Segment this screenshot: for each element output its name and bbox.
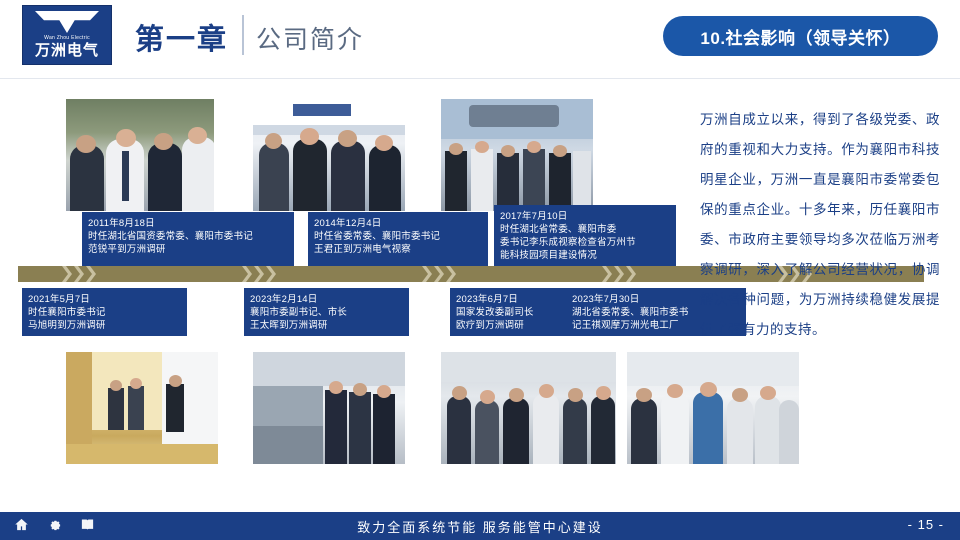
company-logo-icon <box>35 11 99 33</box>
caption-line2: 时任襄阳市委书记 <box>28 306 181 319</box>
timeline-chevron-icon <box>242 266 252 282</box>
timeline-chevron-icon <box>74 266 84 282</box>
caption-line3: 范锐平到万洲调研 <box>88 243 288 256</box>
timeline-chevron-icon <box>422 266 432 282</box>
caption-line1: 2021年5月7日 <box>28 293 181 306</box>
page-number: - 15 - <box>908 517 944 532</box>
caption-2011: 2011年8月18日 时任湖北省国资委常委、襄阳市委书记 范锐平到万洲调研 <box>82 212 294 266</box>
slide-header: Wan Zhou Electric 万洲电气 第一章 公司简介 10.社会影响（… <box>0 0 960 72</box>
caption-line2: 时任湖北省常委、襄阳市委 <box>500 223 670 236</box>
photo-2023-06 <box>441 352 616 464</box>
caption-line3: 委书记李乐成视察检查省万州节 <box>500 236 670 249</box>
caption-line2: 时任省委常委、襄阳市委书记 <box>314 230 482 243</box>
photo-image <box>66 99 214 211</box>
photo-2017 <box>441 99 593 211</box>
timeline-chevron-icon <box>254 266 264 282</box>
timeline-chevron-icon <box>626 266 636 282</box>
caption-line1: 2017年7月10日 <box>500 210 670 223</box>
timeline-chevron-icon <box>602 266 612 282</box>
slide-title: 10.社会影响（领导关怀） <box>700 24 900 49</box>
caption-line3: 王君正到万洲电气视察 <box>314 243 482 256</box>
caption-2014: 2014年12月4日 时任省委常委、襄阳市委书记 王君正到万洲电气视察 <box>308 212 488 266</box>
header-rule <box>0 78 960 79</box>
body-paragraph: 万洲自成立以来，得到了各级党委、政府的重视和大力支持。作为襄阳市科技明星企业，万… <box>700 105 940 345</box>
timeline-chevron-icon <box>62 266 72 282</box>
photo-image <box>441 99 593 211</box>
caption-line4: 能科技园项目建设情况 <box>500 249 670 262</box>
photo-image <box>253 352 405 464</box>
photo-image <box>66 352 218 464</box>
photo-2023-02 <box>253 352 405 464</box>
chapter-subtitle: 公司简介 <box>256 20 364 56</box>
photo-image <box>441 352 616 464</box>
caption-line1: 2023年2月14日 <box>250 293 403 306</box>
photo-2023-07 <box>627 352 799 464</box>
caption-line3: 王太晖到万洲调研 <box>250 319 403 332</box>
caption-2021: 2021年5月7日 时任襄阳市委书记 马旭明到万洲调研 <box>22 288 187 336</box>
footer-slogan: 致力全面系统节能 服务能管中心建设 <box>0 517 960 536</box>
caption-line2: 襄阳市委副书记、市长 <box>250 306 403 319</box>
header-divider <box>242 15 244 55</box>
chapter-label: 第一章 <box>135 16 228 58</box>
logo-cn-text: 万洲电气 <box>35 43 99 59</box>
caption-line1: 2014年12月4日 <box>314 217 482 230</box>
timeline-chevron-icon <box>446 266 456 282</box>
timeline-chevron-icon <box>266 266 276 282</box>
photo-image <box>627 352 799 464</box>
photo-image <box>253 99 405 211</box>
caption-line2: 时任湖北省国资委常委、襄阳市委书记 <box>88 230 288 243</box>
timeline-chevron-icon <box>86 266 96 282</box>
photo-2011 <box>66 99 214 211</box>
timeline-chevron-icon <box>614 266 624 282</box>
photo-2014 <box>253 99 405 211</box>
caption-line3: 马旭明到万洲调研 <box>28 319 181 332</box>
logo-en-text: Wan Zhou Electric <box>44 35 90 41</box>
caption-line1: 2011年8月18日 <box>88 217 288 230</box>
company-logo: Wan Zhou Electric 万洲电气 <box>22 5 112 65</box>
caption-2017: 2017年7月10日 时任湖北省常委、襄阳市委 委书记李乐成视察检查省万州节 能… <box>494 205 676 266</box>
caption-2023-02: 2023年2月14日 襄阳市委副书记、市长 王太晖到万洲调研 <box>244 288 409 336</box>
photo-2021 <box>66 352 218 464</box>
slide-title-pill: 10.社会影响（领导关怀） <box>663 16 938 56</box>
timeline-chevron-icon <box>434 266 444 282</box>
